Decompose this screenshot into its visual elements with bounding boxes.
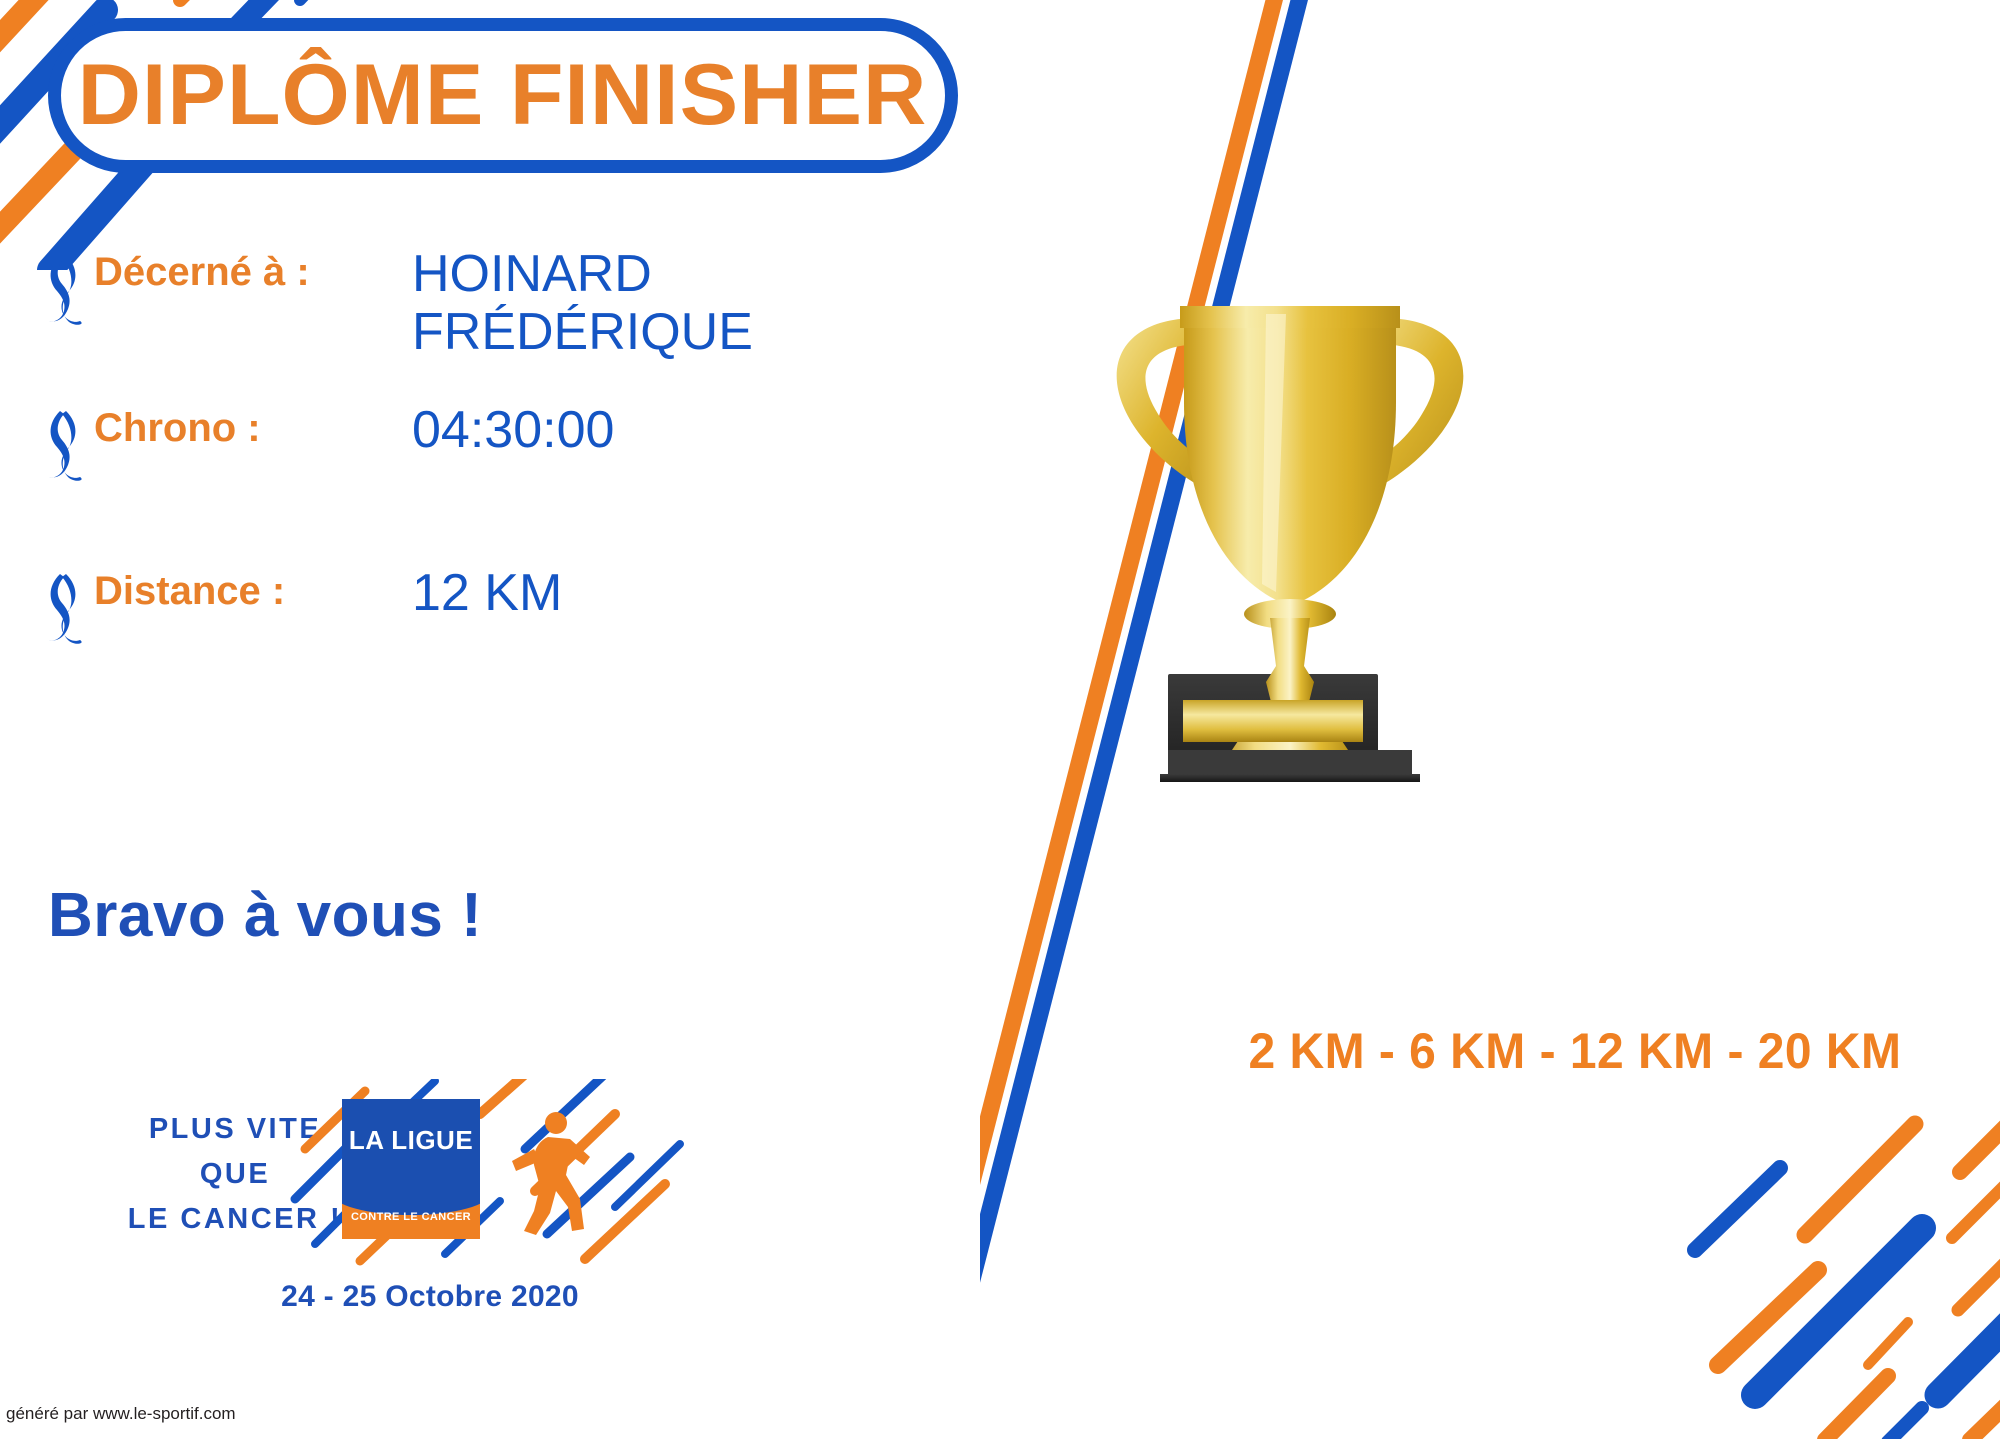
footer-credit: généré par www.le-sportif.com: [6, 1404, 236, 1424]
field-label-recipient: Décerné à :: [94, 245, 394, 295]
ribbon-icon: [40, 564, 86, 649]
field-label-distance: Distance :: [94, 564, 394, 614]
la-ligue-logo: LA LIGUE CONTRE LE CANCER: [342, 1099, 480, 1239]
field-value-chrono: 04:30:00: [412, 401, 614, 459]
diploma-title-plaque: DIPLÔME FINISHER: [48, 18, 958, 173]
trophy-base-plate: [1183, 700, 1363, 742]
logo-wordmark: LA LIGUE: [342, 1125, 480, 1156]
field-row-chrono: Chrono : 04:30:00: [40, 401, 920, 486]
field-label-chrono: Chrono :: [94, 401, 394, 451]
ribbon-icon: [40, 245, 86, 330]
field-row-distance: Distance : 12 KM: [40, 564, 920, 649]
field-value-distance: 12 KM: [412, 564, 562, 622]
logo-curve: [342, 1171, 480, 1215]
field-value-recipient: HOINARD FRÉDÉRIQUE: [412, 245, 753, 361]
event-date: 24 - 25 Octobre 2020: [230, 1280, 630, 1314]
page-title: DIPLÔME FINISHER: [78, 46, 928, 145]
logo-subtitle: CONTRE LE CANCER: [342, 1211, 480, 1223]
diploma-details: Décerné à : HOINARD FRÉDÉRIQUE Chrono : …: [40, 245, 920, 661]
event-logo-cluster: PLUS VITE QUE LE CANCER ! LA LIGUE CONTR…: [70, 1085, 710, 1365]
ribbon-icon: [40, 401, 86, 486]
field-row-recipient: Décerné à : HOINARD FRÉDÉRIQUE: [40, 245, 920, 361]
congratulations-text: Bravo à vous !: [48, 880, 482, 951]
runner-icon: [490, 1103, 610, 1243]
diploma-canvas: DIPLÔME FINISHER Décerné à : HOINARD FRÉ…: [0, 0, 2000, 1439]
event-distances: 2 KM - 6 KM - 12 KM - 20 KM: [1196, 1022, 1954, 1080]
